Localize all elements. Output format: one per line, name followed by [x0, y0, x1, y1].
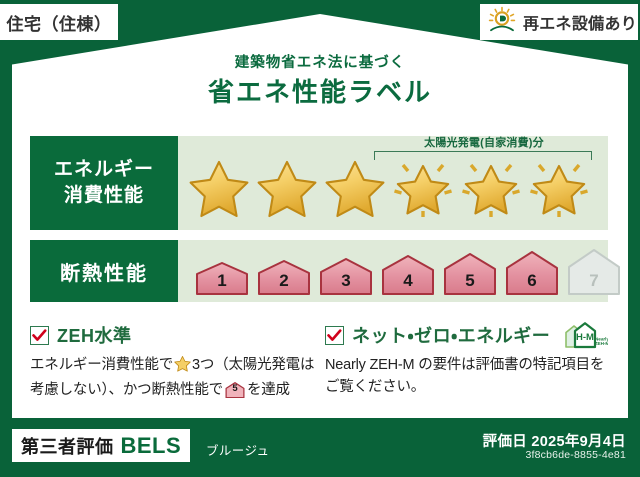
- building-name: ブルージュ: [206, 440, 269, 459]
- star-filled-pv: [526, 156, 592, 220]
- insulation-level: 5: [440, 252, 500, 295]
- energy-performance-row: エネルギー 消費性能 太陽光発電(自家消費)分: [30, 136, 608, 230]
- energy-performance-key: エネルギー 消費性能: [30, 136, 178, 230]
- insulation-level: 6: [502, 250, 562, 295]
- insulation-performance-value: 1 2 3 4: [178, 240, 624, 302]
- zeh-m-badge-main: H-M: [576, 332, 594, 343]
- check-icon: [327, 329, 342, 342]
- star-filled: [254, 156, 320, 220]
- inline-star-icon: [174, 355, 191, 379]
- net-zero-criteria-body: Nearly ZEH-M の要件は評価書の特記項目をご覧ください。: [325, 354, 615, 399]
- zeh-criteria-body: エネルギー消費性能で3つ（太陽光発電は考慮しない）、かつ断熱性能で 5 を達成: [30, 354, 320, 406]
- zeh-criteria-block: ZEH水準 エネルギー消費性能で3つ（太陽光発電は考慮しない）、かつ断熱性能で …: [30, 322, 320, 406]
- net-zero-criteria-header: ネット・ゼロ・エネルギー H-M Nearly ZEH-M: [325, 322, 615, 348]
- insulation-key-label: 断熱性能: [60, 257, 148, 286]
- zeh-criteria-title: ZEH水準: [57, 322, 132, 348]
- energy-performance-label: 住宅（住棟） 再エネ設備あり 建築物省エネ法に基づく: [0, 0, 640, 477]
- sun-icon: [487, 6, 517, 39]
- zeh-body-part3: を達成: [247, 382, 290, 398]
- insulation-level-scale: 1 2 3 4: [178, 240, 624, 302]
- insulation-performance-key: 断熱性能: [30, 240, 178, 302]
- energy-key-line1: エネルギー: [54, 157, 154, 183]
- star-rating: [178, 156, 592, 220]
- renewable-equipment-badge: 再エネ設備あり: [480, 4, 638, 40]
- insulation-level: 4: [378, 254, 438, 295]
- zeh-checkbox[interactable]: [30, 326, 49, 345]
- inline-house-number: 5: [225, 384, 245, 394]
- zeh-criteria-header: ZEH水準: [30, 322, 320, 348]
- inline-house-badge: 5: [225, 382, 245, 405]
- renewable-equipment-label: 再エネ設備あり: [523, 10, 637, 34]
- net-zero-criteria-block: ネット・ゼロ・エネルギー H-M Nearly ZEH-M Nearly ZEH…: [325, 322, 615, 399]
- insulation-level: 3: [316, 257, 376, 295]
- page-title: 省エネ性能ラベル: [0, 78, 640, 107]
- zeh-body-part1: エネルギー消費性能で: [30, 357, 173, 373]
- pv-bracket-label: 太陽光発電(自家消費)分: [374, 134, 594, 150]
- zeh-m-badge-sub2: ZEH-M: [595, 341, 608, 346]
- energy-performance-value: 太陽光発電(自家消費)分: [178, 136, 608, 230]
- zeh-m-logo: H-M Nearly ZEH-M: [562, 321, 608, 349]
- bels-prefix-label: 第三者評価: [21, 433, 114, 459]
- house-type-badge: 住宅（住棟）: [0, 4, 118, 40]
- bels-badge: 第三者評価 BELS: [12, 429, 190, 462]
- title-block: 建築物省エネ法に基づく 省エネ性能ラベル: [0, 56, 640, 107]
- title-subtitle: 建築物省エネ法に基づく: [0, 56, 640, 72]
- star-filled-pv: [390, 156, 456, 220]
- insulation-level-inactive: 7: [564, 248, 624, 295]
- energy-key-line2: 消費性能: [64, 183, 144, 209]
- insulation-level: 2: [254, 259, 314, 295]
- star-filled: [186, 156, 252, 220]
- evaluation-id: 3f8cb6de-8855-4e81: [525, 449, 626, 461]
- house-type-label: 住宅（住棟）: [7, 10, 112, 35]
- bels-mark-label: BELS: [121, 433, 182, 459]
- net-zero-checkbox[interactable]: [325, 326, 344, 345]
- footer: 第三者評価 BELS ブルージュ 評価日 2025年9月4日 3f8cb6de-…: [0, 422, 640, 477]
- net-zero-criteria-title: ネット・ゼロ・エネルギー: [352, 322, 550, 348]
- evaluation-date: 評価日 2025年9月4日: [483, 430, 626, 451]
- insulation-performance-row: 断熱性能 1: [30, 240, 608, 302]
- star-filled-pv: [458, 156, 524, 220]
- check-icon: [32, 329, 47, 342]
- star-filled: [322, 156, 388, 220]
- insulation-level: 1: [192, 261, 252, 295]
